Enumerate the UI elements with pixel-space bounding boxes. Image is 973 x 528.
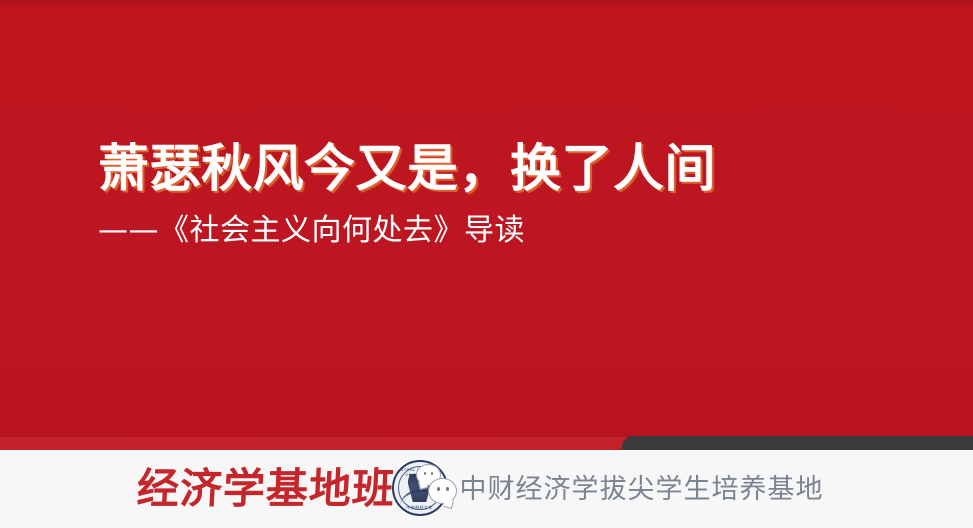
- bubble-eye-left: [424, 472, 427, 475]
- wechat-bubble-front: [428, 478, 457, 504]
- hero-top-shade: [0, 0, 973, 10]
- title-block: 萧瑟秋风今又是，换了人间 ——《社会主义向何处去》导读: [98, 140, 858, 250]
- main-title: 萧瑟秋风今又是，换了人间: [98, 140, 858, 200]
- emblem-group: CENTRAL UNIVERSITY OF FINANCE 中央财经大学: [392, 456, 458, 522]
- dark-accent-bar: [622, 436, 973, 450]
- footer-bar: 经济学基地班 CENTRAL UNIVERSITY OF FINANCE 中央财…: [0, 450, 973, 528]
- hero-banner: 萧瑟秋风今又是，换了人间 ——《社会主义向何处去》导读: [0, 0, 973, 450]
- account-name: 中财经济学拔尖学生培养基地: [460, 476, 824, 503]
- presentation-slide: 萧瑟秋风今又是，换了人间 ——《社会主义向何处去》导读 经济学基地班 CENTR…: [0, 0, 973, 528]
- brand-name: 经济学基地班: [136, 468, 396, 510]
- bubble-eye-right: [431, 472, 434, 475]
- sub-title: ——《社会主义向何处去》导读: [98, 212, 858, 250]
- hero-bottom-strip: [0, 437, 626, 450]
- wechat-bubbles-icon: [416, 464, 458, 508]
- bubble-eye-left: [437, 487, 440, 491]
- footer-content: 经济学基地班 CENTRAL UNIVERSITY OF FINANCE 中央财…: [137, 456, 823, 522]
- bubble-eye-right: [446, 487, 449, 491]
